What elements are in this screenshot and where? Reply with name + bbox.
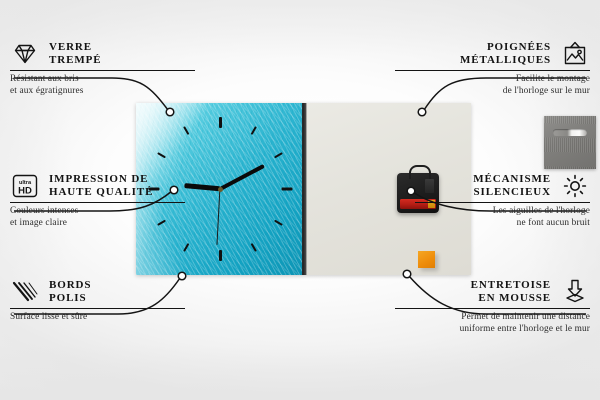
- feature-title: POIGNÉES MÉTALLIQUES: [460, 41, 551, 66]
- feature-title: ENTRETOISE EN MOUSSE: [471, 279, 551, 304]
- feature-description: Permet de maintenir une distance uniform…: [385, 312, 590, 334]
- polished-edges-icon: [10, 278, 40, 305]
- hanger-slot: [553, 129, 587, 136]
- feature-header: MÉCANISME SILENCIEUX: [385, 172, 590, 199]
- clock-hand-cap: [218, 187, 223, 192]
- feature-title: IMPRESSION DE HAUTE QUALITÉ: [49, 173, 153, 198]
- feature-header: BORDS POLIS: [10, 278, 215, 305]
- feature-verre-trempe: VERRE TREMPÉ Résistant aux bris et aux é…: [10, 40, 215, 97]
- svg-text:HD: HD: [18, 185, 32, 196]
- clock-tick: [157, 152, 166, 158]
- infographic-canvas: VERRE TREMPÉ Résistant aux bris et aux é…: [0, 0, 600, 400]
- clock-second-hand: [216, 189, 220, 245]
- diamond-icon: [10, 40, 40, 67]
- feature-description: Facilite le montage de l'horloge sur le …: [385, 74, 590, 96]
- feature-divider: [395, 70, 590, 71]
- feature-description: Résistant aux bris et aux égratignures: [10, 74, 215, 96]
- feature-header: ultra HD IMPRESSION DE HAUTE QUALITÉ: [10, 172, 215, 199]
- clock-tick: [274, 152, 283, 158]
- clock-tick: [251, 243, 257, 252]
- feature-header: POIGNÉES MÉTALLIQUES: [385, 40, 590, 67]
- feature-impression-hd: ultra HD IMPRESSION DE HAUTE QUALITÉ Cou…: [10, 172, 215, 229]
- clock-tick: [274, 220, 283, 226]
- feature-description: Couleurs intenses et image claire: [10, 206, 215, 228]
- clock-tick: [219, 117, 222, 128]
- feature-title: BORDS POLIS: [49, 279, 91, 304]
- clock-tick: [183, 243, 189, 252]
- feature-mecanisme-silencieux: MÉCANISME SILENCIEUX Les aiguilles de l'…: [385, 172, 590, 229]
- feature-title: MÉCANISME SILENCIEUX: [473, 173, 551, 198]
- feature-entretoise-mousse: ENTRETOISE EN MOUSSE Permet de maintenir…: [385, 278, 590, 335]
- arrow-press-foam-icon: [560, 278, 590, 305]
- clock-minute-hand: [219, 164, 265, 191]
- feature-divider: [415, 202, 590, 203]
- foam-spacer: [418, 251, 435, 268]
- feature-divider: [10, 70, 195, 71]
- clock-tick: [183, 126, 189, 135]
- feature-divider: [10, 202, 185, 203]
- feature-title: VERRE TREMPÉ: [49, 41, 101, 66]
- feature-divider: [10, 308, 185, 309]
- picture-frame-hook-icon: [560, 40, 590, 67]
- clock-tick: [281, 188, 292, 191]
- feature-poignees-metalliques: POIGNÉES MÉTALLIQUES Facilite le montage…: [385, 40, 590, 97]
- feature-description: Les aiguilles de l'horloge ne font aucun…: [385, 206, 590, 228]
- feature-header: VERRE TREMPÉ: [10, 40, 215, 67]
- feature-divider: [395, 308, 590, 309]
- feature-header: ENTRETOISE EN MOUSSE: [385, 278, 590, 305]
- clock-tick: [251, 126, 257, 135]
- ultra-hd-icon: ultra HD: [10, 172, 40, 199]
- gear-icon: [560, 172, 590, 199]
- feature-description: Surface lisse et sûre: [10, 312, 215, 323]
- feature-bords-polis: BORDS POLIS Surface lisse et sûre: [10, 278, 215, 324]
- metal-hanger-plate: [544, 116, 596, 169]
- clock-tick: [219, 250, 222, 261]
